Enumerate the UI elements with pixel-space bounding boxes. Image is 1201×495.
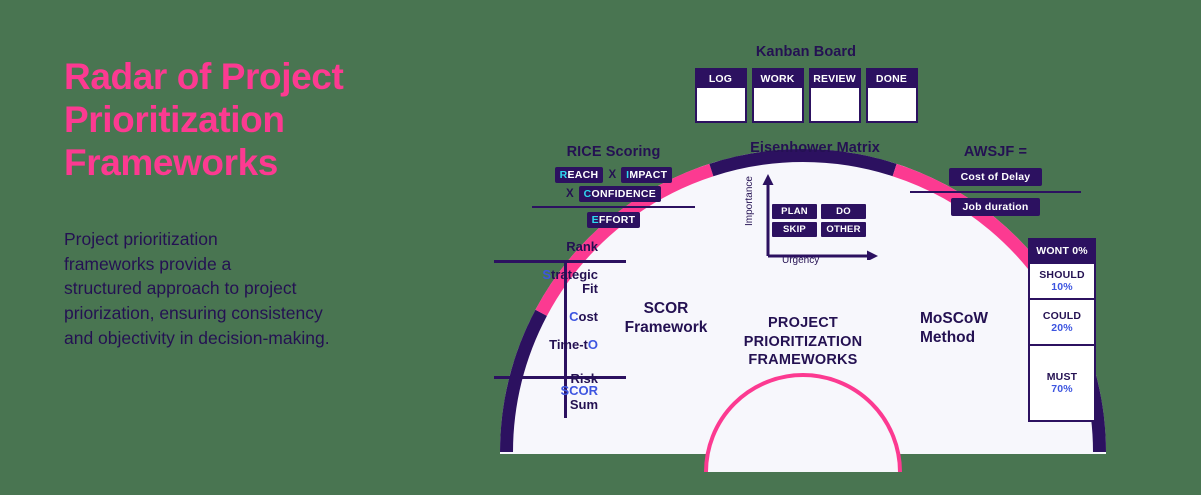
rice-term-reach: REACH: [555, 167, 604, 183]
hub-line-1: PROJECT: [700, 314, 906, 333]
awsjf-denominator-wrap: Job duration: [908, 198, 1083, 216]
rice-title: RICE Scoring: [526, 144, 701, 160]
rice-operator: X: [608, 169, 616, 181]
scor-criterion-0: StrategicFit: [542, 268, 598, 296]
rice-term-confidence: CONFIDENCE: [579, 186, 661, 202]
scor-label-line-2: Framework: [625, 319, 708, 336]
description-line-4: priorization, ensuring consistency: [64, 301, 464, 326]
moscow-segment-must: MUST70%: [1028, 344, 1096, 422]
eisenhower-plot: Importance Urgency PLANDO SKIPOTHER: [720, 166, 910, 264]
eisenhower-matrix-section: Eisenhower Matrix Importance Urgency PLA…: [720, 140, 910, 264]
rice-scoring-section: RICE Scoring REACHXIMPACT XCONFIDENCE EF…: [526, 144, 701, 228]
kanban-column-body[interactable]: [697, 88, 745, 121]
hub-line-2: PRIORITIZATION: [700, 333, 906, 352]
awsjf-formula: Cost of Delay Job duration: [908, 168, 1083, 216]
eisenhower-quadrant-row-top: PLANDO: [772, 204, 866, 219]
description-line-5: and objectivity in decision-making.: [64, 326, 464, 351]
kanban-column-work[interactable]: WORK: [752, 68, 804, 123]
kanban-title: Kanban Board: [691, 44, 921, 60]
moscow-label: MoSCoW Method: [920, 310, 1016, 347]
scor-criterion-2: Time-tO: [549, 338, 598, 352]
eisenhower-quadrant-plan: PLAN: [772, 204, 817, 219]
hub-line-3: FRAMEWORKS: [700, 351, 906, 370]
radar-semicircle: Kanban Board LOGWORKREVIEWDONE RICE Scor…: [478, 22, 1128, 474]
kanban-column-header: LOG: [697, 70, 745, 88]
awsjf-denominator: Job duration: [951, 198, 1041, 216]
scor-bottom-rule: [494, 376, 626, 379]
moscow-method-section: MoSCoW Method WONT 0%SHOULD10%COULD20%MU…: [918, 238, 1118, 428]
moscow-label-line-1: MoSCoW: [920, 310, 988, 327]
rice-fraction-bar: [532, 206, 695, 208]
title-line-1: Radar of Project: [64, 56, 464, 99]
scor-criteria-diagram: StrategicFitCostTime-tORiskRankSCORSum: [488, 238, 606, 418]
page-title: Radar of Project Prioritization Framewor…: [64, 56, 464, 185]
eisenhower-quadrant-skip: SKIP: [772, 222, 817, 237]
rice-denominator: EFFORT: [526, 212, 701, 228]
intro-description: Project prioritization frameworks provid…: [64, 227, 464, 351]
title-line-3: Frameworks: [64, 142, 464, 185]
hub-circle-graphic: [700, 272, 906, 478]
eisenhower-quadrants: PLANDO SKIPOTHER: [772, 204, 866, 240]
intro-panel: Radar of Project Prioritization Framewor…: [64, 56, 464, 351]
kanban-column-body[interactable]: [754, 88, 802, 121]
scor-sum-label: SCORSum: [560, 384, 598, 412]
title-line-2: Prioritization: [64, 99, 464, 142]
rice-formula: REACHXIMPACT XCONFIDENCE EFFORT: [526, 167, 701, 228]
kanban-column-header: WORK: [754, 70, 802, 88]
awsjf-numerator: Cost of Delay: [949, 168, 1043, 186]
moscow-label-line-2: Method: [920, 329, 975, 346]
eisenhower-quadrant-other: OTHER: [821, 222, 866, 237]
kanban-columns: LOGWORKREVIEWDONE: [691, 68, 921, 123]
moscow-segment-could: COULD20%: [1028, 298, 1096, 346]
moscow-stacked-bar: WONT 0%SHOULD10%COULD20%MUST70%: [1028, 238, 1096, 422]
kanban-column-log[interactable]: LOG: [695, 68, 747, 123]
awsjf-numerator-wrap: Cost of Delay: [908, 168, 1083, 186]
scor-label-line-1: SCOR: [644, 300, 689, 317]
kanban-column-header: DONE: [868, 70, 916, 88]
infographic-canvas: Radar of Project Prioritization Framewor…: [0, 0, 1201, 495]
rice-term-effort: EFFORT: [587, 212, 641, 228]
rice-numerator-row-2: XCONFIDENCE: [526, 186, 701, 202]
eisenhower-title: Eisenhower Matrix: [720, 140, 910, 156]
rice-numerator-row-1: REACHXIMPACT: [526, 167, 701, 183]
rice-operator: X: [566, 188, 574, 200]
scor-top-rule: [494, 260, 626, 263]
kanban-board-section: Kanban Board LOGWORKREVIEWDONE: [691, 44, 921, 123]
moscow-segment-wont: WONT 0%: [1028, 238, 1096, 264]
scor-framework-section: StrategicFitCostTime-tORiskRankSCORSum S…: [488, 238, 698, 418]
kanban-column-header: REVIEW: [811, 70, 859, 88]
eisenhower-quadrant-row-bottom: SKIPOTHER: [772, 222, 866, 237]
description-line-3: structured approach to project: [64, 276, 464, 301]
awsjf-title: AWSJF =: [908, 144, 1083, 160]
kanban-column-body[interactable]: [811, 88, 859, 121]
kanban-column-review[interactable]: REVIEW: [809, 68, 861, 123]
eisenhower-y-axis-label: Importance: [744, 176, 755, 226]
hub-title: PROJECT PRIORITIZATION FRAMEWORKS: [700, 314, 906, 370]
kanban-column-done[interactable]: DONE: [866, 68, 918, 123]
description-line-1: Project prioritization: [64, 227, 464, 252]
scor-criterion-1: Cost: [569, 310, 598, 324]
awsjf-fraction-bar: [910, 191, 1081, 193]
moscow-segment-should: SHOULD10%: [1028, 262, 1096, 300]
center-hub: PROJECT PRIORITIZATION FRAMEWORKS: [700, 272, 906, 478]
rice-term-impact: IMPACT: [621, 167, 672, 183]
eisenhower-quadrant-do: DO: [821, 204, 866, 219]
kanban-column-body[interactable]: [868, 88, 916, 121]
description-line-2: frameworks provide a: [64, 252, 464, 277]
awsjf-section: AWSJF = Cost of Delay Job duration: [908, 144, 1083, 216]
scor-rank-label: Rank: [566, 240, 598, 254]
